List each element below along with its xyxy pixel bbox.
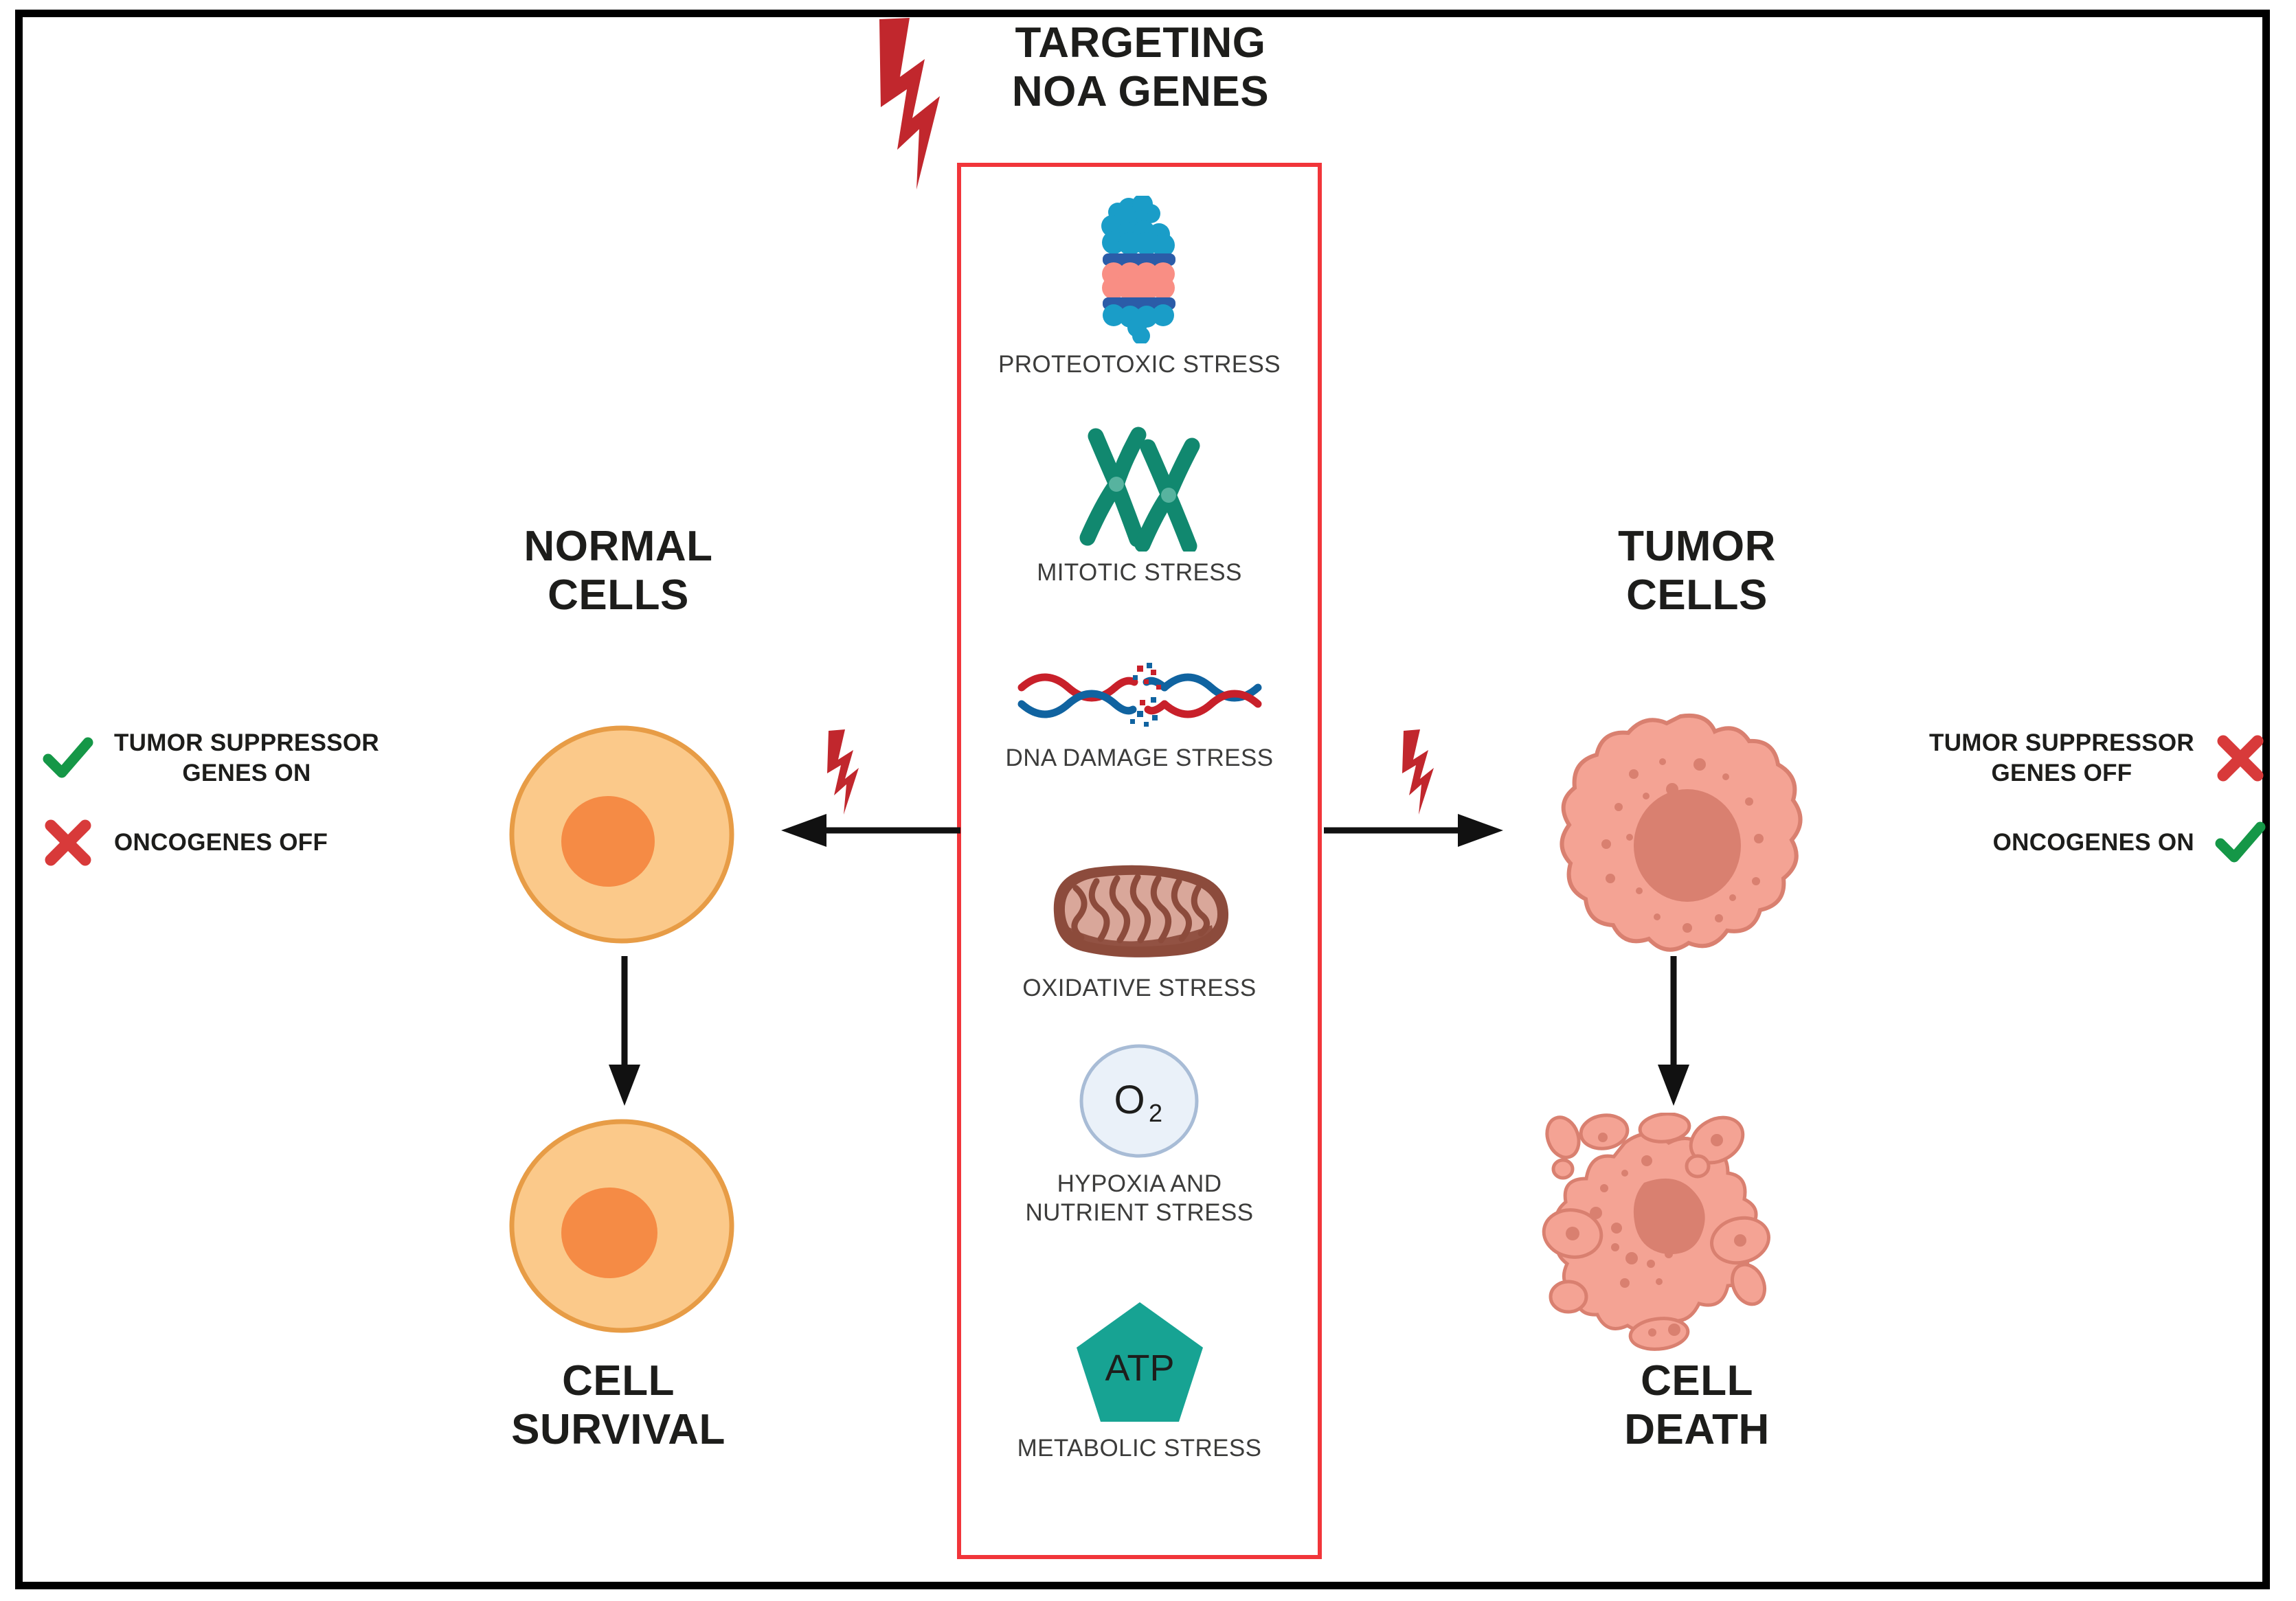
legend-row-oncogenes-off: ONCOGENES OFF (41, 816, 467, 870)
legend-label-oncogenes-off: ONCOGENES OFF (114, 828, 328, 858)
figure-title: TARGETING NOA GENES (955, 19, 1326, 116)
lightning-bolt-icon-left (824, 728, 866, 816)
legend-row-tumor-suppressor-off: TUMOR SUPPRESSOR GENES OFF (1855, 728, 2267, 788)
proteasome-icon (1078, 196, 1202, 343)
cell-survival-heading: CELL SURVIVAL (433, 1356, 804, 1455)
lightning-bolt-icon-top (874, 14, 958, 194)
stress-label-mitotic: MITOTIC STRESS (961, 558, 1318, 587)
stress-label-oxidative: OXIDATIVE STRESS (961, 974, 1318, 1003)
mitochondrion-icon (1040, 854, 1239, 967)
stress-label-metabolic: METABOLIC STRESS (961, 1434, 1318, 1463)
oxygen-molecule-icon: O 2 (1076, 1039, 1203, 1163)
lightning-bolt-icon-right (1399, 728, 1441, 816)
apoptotic-cell-icon (1522, 1113, 1810, 1353)
svg-text:O: O (1114, 1078, 1145, 1122)
title-line-2: NOA GENES (955, 68, 1326, 117)
stress-item-dna-damage: DNA DAMAGE STRESS (961, 661, 1318, 773)
cross-icon (2214, 731, 2267, 785)
arrow-to-normal-cells (780, 809, 962, 852)
stress-item-proteotoxic: PROTEOTOXIC STRESS (961, 196, 1318, 379)
arrow-tumor-to-death (1652, 955, 1695, 1107)
stress-item-mitotic: MITOTIC STRESS (961, 421, 1318, 587)
stress-label-proteotoxic: PROTEOTOXIC STRESS (961, 350, 1318, 379)
stress-label-hypoxia: HYPOXIA AND NUTRIENT STRESS (961, 1170, 1318, 1227)
tumor-cell-icon (1553, 711, 1807, 958)
legend-label-tumor-suppressor-off: TUMOR SUPPRESSOR GENES OFF (1929, 728, 2194, 788)
title-line-1: TARGETING (955, 19, 1326, 68)
arrow-normal-to-survival (603, 955, 646, 1107)
legend-label-oncogenes-on: ONCOGENES ON (1993, 828, 2194, 858)
legend-row-oncogenes-on: ONCOGENES ON (1855, 816, 2267, 870)
check-icon (41, 731, 95, 785)
legend-label-tumor-suppressor-on: TUMOR SUPPRESSOR GENES ON (114, 728, 379, 788)
legend-row-tumor-suppressor-on: TUMOR SUPPRESSOR GENES ON (41, 728, 467, 788)
chromosomes-icon (1057, 421, 1222, 552)
legend-normal-cells: TUMOR SUPPRESSOR GENES ON ONCOGENES OFF (41, 728, 467, 897)
stress-panel: PROTEOTOXIC STRESS (957, 163, 1322, 1559)
stress-item-metabolic: ATP METABOLIC STRESS (961, 1297, 1318, 1463)
svg-text:2: 2 (1149, 1099, 1162, 1127)
tumor-cells-heading: TUMOR CELLS (1511, 522, 1882, 620)
stress-item-hypoxia: O 2 HYPOXIA AND NUTRIENT STRESS (961, 1039, 1318, 1227)
normal-cell-icon (505, 721, 739, 948)
legend-tumor-cells: TUMOR SUPPRESSOR GENES OFF ONCOGENES ON (1855, 728, 2267, 897)
cross-icon (41, 816, 95, 870)
normal-cells-heading: NORMAL CELLS (433, 522, 804, 620)
dna-helix-icon (1016, 661, 1263, 737)
surviving-cell-icon (505, 1113, 739, 1339)
arrow-to-tumor-cells (1323, 809, 1505, 852)
figure-canvas: TARGETING NOA GENES (0, 0, 2296, 1601)
cell-death-heading: CELL DEATH (1511, 1356, 1882, 1455)
check-icon (2214, 816, 2267, 870)
stress-label-dna-damage: DNA DAMAGE STRESS (961, 744, 1318, 773)
atp-pentagon-icon: ATP (1071, 1297, 1208, 1427)
svg-text:ATP: ATP (1105, 1348, 1174, 1389)
stress-item-oxidative: OXIDATIVE STRESS (961, 854, 1318, 1003)
